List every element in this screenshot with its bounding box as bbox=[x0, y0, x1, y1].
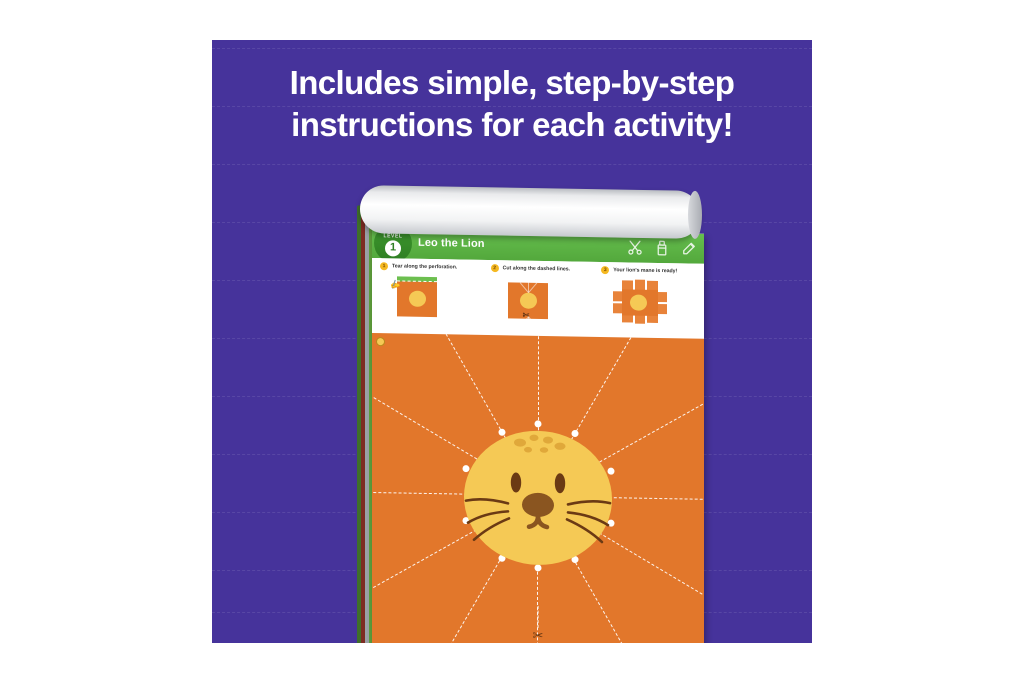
level-label: LEVEL bbox=[383, 233, 402, 239]
thumb-scissors-icon: ✄ bbox=[523, 311, 530, 320]
step-3-text: Your lion's mane is ready! bbox=[613, 267, 677, 274]
activity-title: Leo the Lion bbox=[418, 237, 485, 250]
step-3-illustration bbox=[611, 278, 669, 323]
step-3: 3 Your lion's mane is ready! bbox=[593, 266, 704, 339]
lion-face-illustration bbox=[462, 425, 614, 568]
bottom-cut-marker: ✂ bbox=[533, 628, 544, 643]
step-2-illustration: ✄ bbox=[501, 276, 559, 321]
step-1-number: 1 bbox=[380, 262, 388, 270]
corner-dot bbox=[376, 337, 385, 346]
step-2: 2 Cut along the dashed lines. bbox=[483, 264, 594, 337]
background-rule bbox=[212, 48, 812, 49]
promo-image: Includes simple, step-by-step instructio… bbox=[0, 0, 1024, 683]
step-2-text: Cut along the dashed lines. bbox=[503, 265, 570, 272]
tool-icon-group bbox=[626, 237, 698, 258]
activity-pad: LEVEL 1 Leo the Lion bbox=[354, 150, 704, 643]
step-2-heading: 2 Cut along the dashed lines. bbox=[491, 264, 594, 274]
lion-activity-page: ✂ bbox=[372, 333, 704, 643]
step-1-text: Tear along the perforation. bbox=[392, 263, 457, 270]
instruction-steps: 1 Tear along the perforation. ✍ 2 bbox=[372, 258, 704, 339]
headline-line-1: Includes simple, step-by-step bbox=[290, 64, 735, 101]
level-number-circle: 1 bbox=[385, 240, 401, 256]
step-3-heading: 3 Your lion's mane is ready! bbox=[601, 266, 704, 276]
step-1-heading: 1 Tear along the perforation. bbox=[380, 262, 483, 272]
glue-stick-icon bbox=[653, 238, 671, 258]
step-2-number: 2 bbox=[491, 264, 499, 272]
front-activity-sheet: LEVEL 1 Leo the Lion bbox=[372, 228, 704, 643]
purple-promo-panel: Includes simple, step-by-step instructio… bbox=[212, 40, 812, 643]
promo-headline: Includes simple, step-by-step instructio… bbox=[212, 62, 812, 146]
roll-end-cap bbox=[688, 191, 702, 239]
step-1-illustration: ✍ bbox=[390, 274, 448, 319]
step-3-number: 3 bbox=[601, 266, 609, 274]
scissors-icon: ✂ bbox=[533, 628, 544, 643]
marker-icon bbox=[680, 238, 698, 258]
step-1: 1 Tear along the perforation. ✍ bbox=[372, 262, 483, 335]
scissors-icon bbox=[626, 237, 644, 257]
thumb-perforation-strip bbox=[397, 276, 437, 282]
level-number: 1 bbox=[390, 242, 396, 253]
bottom-dashed-line bbox=[538, 606, 539, 628]
headline-line-2: instructions for each activity! bbox=[212, 104, 812, 146]
thumb-lion-face bbox=[409, 291, 426, 307]
rolled-page-top bbox=[360, 185, 700, 239]
thumb-lion-face bbox=[520, 293, 537, 309]
